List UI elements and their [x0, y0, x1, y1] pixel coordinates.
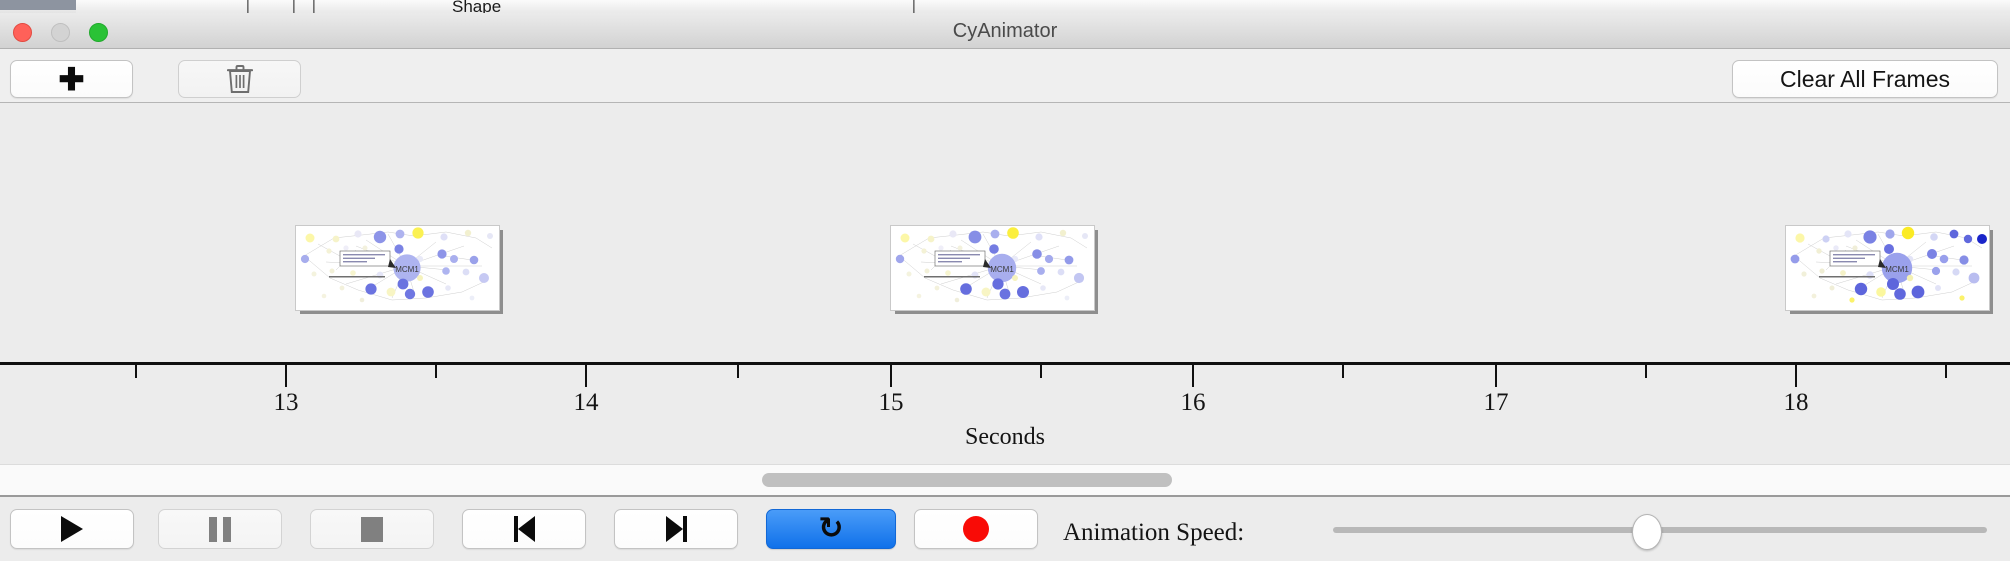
- axis-title: Seconds: [0, 424, 2010, 451]
- background-glyph-1: |: [246, 0, 250, 14]
- pause-icon: [209, 517, 231, 542]
- background-glyph-2: |: [292, 0, 296, 14]
- window-titlebar: CyAnimator: [0, 13, 2010, 49]
- background-glyph-3: |: [312, 0, 316, 14]
- axis-tick-label: 16: [1181, 389, 1206, 417]
- timeline-frames-panel[interactable]: MCM1: [0, 103, 2010, 362]
- transport-bar: ↻ Animation Speed:: [0, 497, 2010, 561]
- scrollbar-thumb[interactable]: [762, 473, 1172, 487]
- skip-back-icon: [514, 516, 535, 542]
- axis-minor-tick: [435, 365, 437, 378]
- window-title: CyAnimator: [0, 20, 2010, 43]
- delete-frame-button[interactable]: [178, 60, 301, 98]
- axis-minor-tick: [1342, 365, 1344, 378]
- stop-button[interactable]: [310, 509, 434, 549]
- play-icon: [61, 516, 83, 542]
- axis-minor-tick: [1040, 365, 1042, 378]
- record-button[interactable]: [914, 509, 1038, 549]
- axis-major-tick: [585, 365, 587, 387]
- add-frame-button[interactable]: ✚: [10, 60, 133, 98]
- background-window-selected-cell: [0, 0, 76, 10]
- axis-minor-tick: [1645, 365, 1647, 378]
- axis-minor-tick: [737, 365, 739, 378]
- timeline-frame-thumbnail[interactable]: MCM1: [890, 225, 1098, 313]
- svg-text:MCM1: MCM1: [395, 265, 419, 274]
- skip-forward-icon: [666, 516, 687, 542]
- background-window-strip: | | | | Shape: [0, 0, 2010, 14]
- cyanimator-window: CyAnimator ✚ Clear All Frames: [0, 13, 2010, 510]
- axis-minor-tick: [135, 365, 137, 378]
- network-thumbnail: MCM1: [890, 225, 1095, 311]
- network-thumbnail: MCM1: [1785, 225, 1990, 311]
- axis-line: [0, 362, 2010, 365]
- axis-tick-label: 13: [274, 389, 299, 417]
- trash-icon: [227, 64, 253, 94]
- axis-tick-label: 18: [1784, 389, 1809, 417]
- timeline-axis[interactable]: 12 13 14 15 16 17 18 Seconds: [0, 362, 2010, 464]
- skip-start-button[interactable]: [462, 509, 586, 549]
- svg-text:MCM1: MCM1: [990, 265, 1014, 274]
- axis-major-tick: [285, 365, 287, 387]
- axis-major-tick: [890, 365, 892, 387]
- axis-tick-label: 14: [574, 389, 599, 417]
- svg-text:MCM1: MCM1: [1885, 265, 1909, 274]
- stop-icon: [361, 517, 383, 542]
- axis-major-tick: [1192, 365, 1194, 387]
- timeline-frame-thumbnail[interactable]: MCM1: [1785, 225, 1993, 313]
- skip-end-button[interactable]: [614, 509, 738, 549]
- plus-icon: ✚: [59, 64, 85, 95]
- background-glyph-4: |: [912, 0, 916, 14]
- clear-all-frames-button[interactable]: Clear All Frames: [1732, 60, 1998, 98]
- axis-tick-label: 17: [1484, 389, 1509, 417]
- pause-button[interactable]: [158, 509, 282, 549]
- network-thumbnail: MCM1: [295, 225, 500, 311]
- axis-major-tick: [1495, 365, 1497, 387]
- play-button[interactable]: [10, 509, 134, 549]
- axis-tick-label: 15: [879, 389, 904, 417]
- frames-toolbar: ✚ Clear All Frames: [0, 49, 2010, 103]
- axis-minor-tick: [1945, 365, 1947, 378]
- loop-icon: ↻: [818, 514, 843, 544]
- loop-button[interactable]: ↻: [766, 509, 896, 549]
- animation-speed-slider-thumb[interactable]: [1632, 514, 1662, 550]
- animation-speed-label: Animation Speed:: [1063, 519, 1244, 547]
- record-icon: [963, 516, 989, 542]
- timeline-horizontal-scrollbar[interactable]: [0, 464, 2010, 497]
- axis-major-tick: [1795, 365, 1797, 387]
- timeline-frame-thumbnail[interactable]: MCM1: [295, 225, 503, 313]
- clear-all-frames-label: Clear All Frames: [1780, 66, 1950, 93]
- background-window-label: Shape: [452, 0, 501, 14]
